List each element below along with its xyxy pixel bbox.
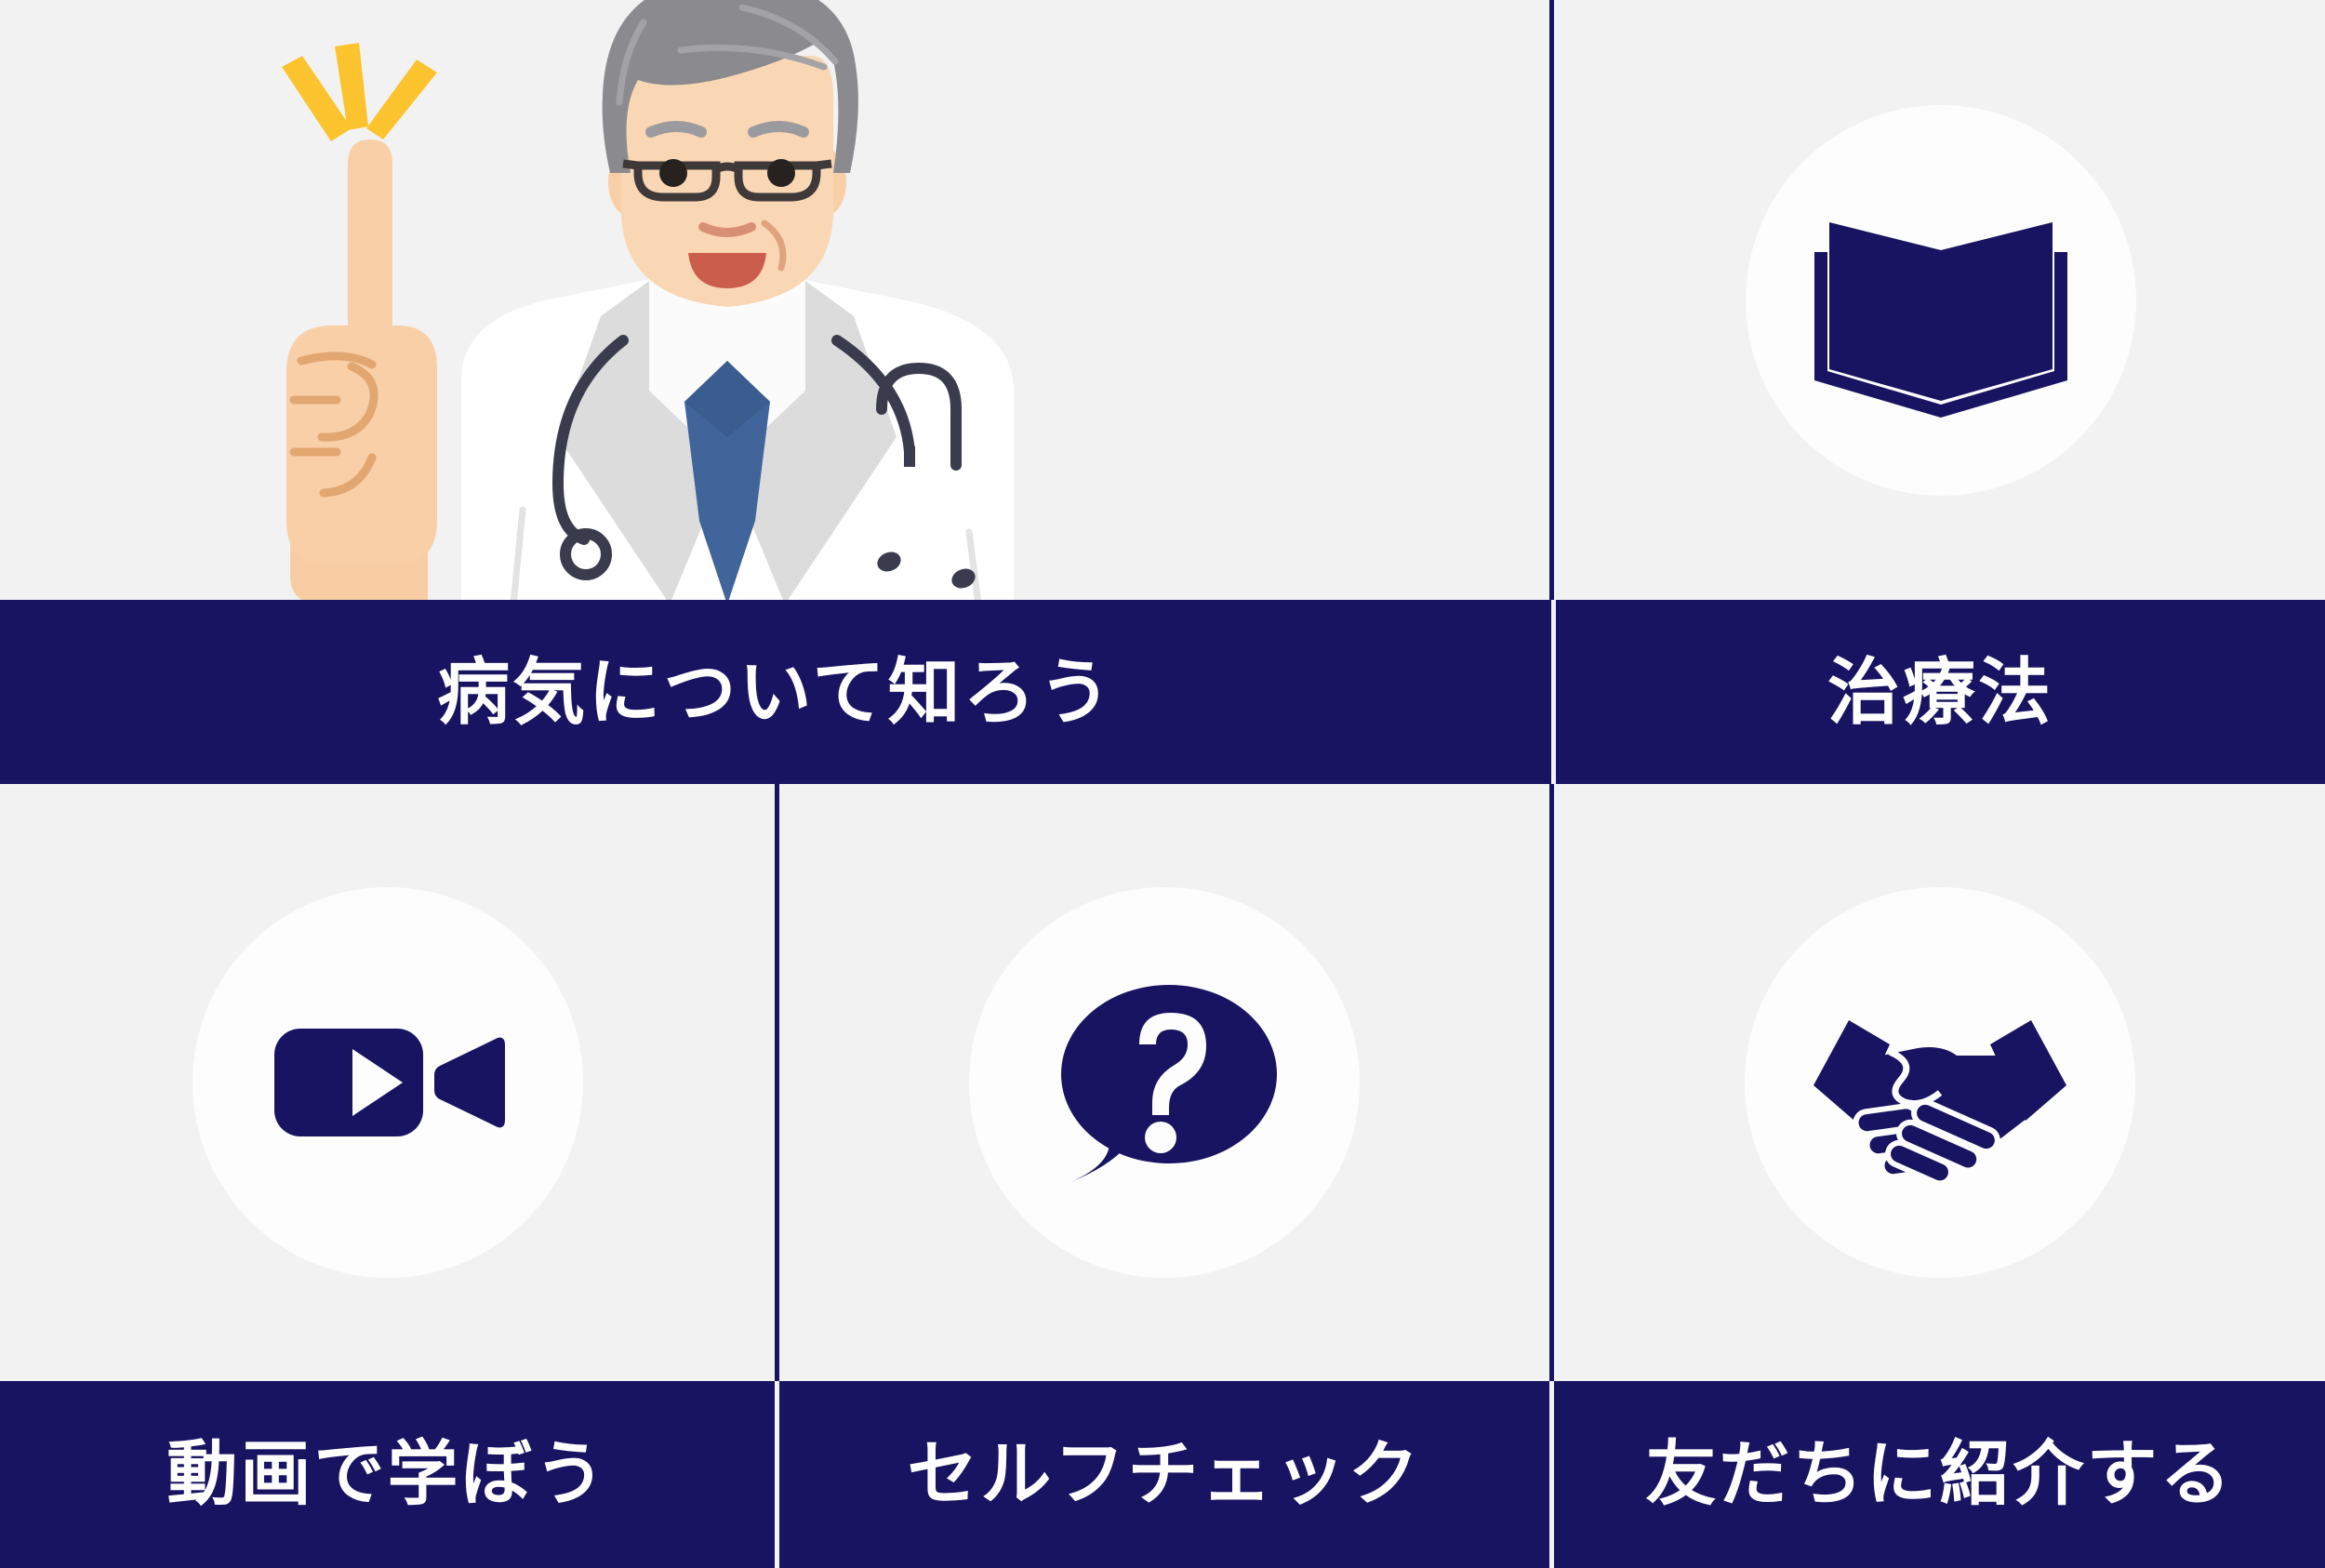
divider-bottom-right: [1549, 784, 1554, 1381]
band-gap-bottom-left: [775, 1381, 779, 1568]
card-selfcheck-media: [779, 784, 1549, 1381]
card-label-selfcheck: セルフチェック: [907, 1440, 1421, 1510]
label-band-refer[interactable]: 友だちに紹介する: [1554, 1381, 2325, 1568]
card-treatment-media: [1556, 0, 2325, 600]
question-speech-bubble-icon: [969, 887, 1360, 1278]
menu-grid: 病気について知ろう 治療法: [0, 0, 2325, 1568]
band-gap-top: [1551, 600, 1556, 784]
card-treatment[interactable]: [1556, 0, 2325, 600]
handshake-icon: [1745, 887, 2135, 1278]
band-gap-bottom-right: [1549, 1381, 1554, 1568]
card-label-disease: 病気について知ろう: [437, 656, 1114, 728]
card-refer-media: [1554, 784, 2325, 1381]
card-label-video: 動画で学ぼう: [166, 1440, 607, 1510]
card-label-refer: 友だちに紹介する: [1645, 1440, 2233, 1510]
label-band-treatment[interactable]: 治療法: [1556, 600, 2325, 784]
divider-bottom-left: [775, 784, 779, 1381]
card-selfcheck[interactable]: [779, 784, 1549, 1381]
card-disease[interactable]: [0, 0, 1551, 600]
card-label-treatment: 治療法: [1827, 656, 2053, 728]
label-band-video[interactable]: 動画で学ぼう: [0, 1381, 775, 1568]
divider-top-row: [1549, 0, 1554, 600]
card-video[interactable]: [0, 784, 775, 1381]
label-band-selfcheck[interactable]: セルフチェック: [779, 1381, 1549, 1568]
label-band-disease[interactable]: 病気について知ろう: [0, 600, 1551, 784]
card-refer[interactable]: [1554, 784, 2325, 1381]
doctor-pointing-illustration: [0, 0, 1551, 600]
open-book-icon: [1746, 105, 2136, 496]
video-camera-play-icon: [193, 887, 583, 1278]
card-disease-media: [0, 0, 1551, 600]
card-video-media: [0, 784, 775, 1381]
